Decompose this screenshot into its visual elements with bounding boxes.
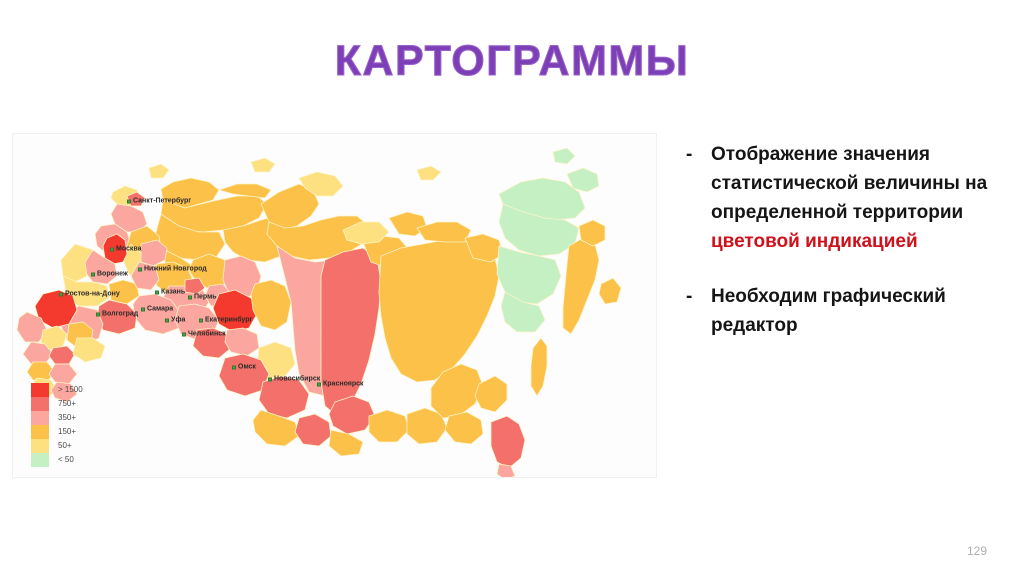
legend-label: 50+ — [58, 442, 72, 450]
bullet-dash-icon: - — [686, 282, 711, 311]
map-legend: > 1500 750+ 350+ 150+ 50+ < 50 — [31, 383, 131, 467]
bullet-text-plain: Отображение значения статистической вели… — [711, 144, 987, 223]
bullet-text-plain: Необходим графический редактор — [711, 286, 946, 336]
legend-item: 150+ — [31, 425, 131, 439]
legend-label: < 50 — [58, 456, 74, 464]
page-title: КАРТОГРАММЫ — [0, 38, 1024, 85]
legend-swatch — [31, 397, 49, 411]
legend-item: > 1500 — [31, 383, 131, 397]
map-panel: .r { stroke:#fdf3c8; stroke-width:0.8; s… — [12, 133, 657, 478]
legend-label: > 1500 — [58, 386, 83, 394]
legend-item: 50+ — [31, 439, 131, 453]
legend-swatch — [31, 453, 49, 467]
legend-item: 750+ — [31, 397, 131, 411]
bullet-dash-icon: - — [686, 140, 711, 169]
legend-item: 350+ — [31, 411, 131, 425]
bullet-text: Отображение значения статистической вели… — [711, 140, 1006, 256]
legend-swatch — [31, 411, 49, 425]
legend-swatch — [31, 383, 49, 397]
bullet-text: Необходим графический редактор — [711, 282, 1006, 340]
bullet-item-2: - Необходим графический редактор — [686, 282, 1006, 340]
bullet-item-1: - Отображение значения статистической ве… — [686, 140, 1006, 256]
bullet-text-accent: цветовой индикацией — [711, 231, 918, 252]
legend-swatch — [31, 439, 49, 453]
page-number: 129 — [967, 544, 987, 558]
legend-label: 750+ — [58, 400, 76, 408]
legend-item: < 50 — [31, 453, 131, 467]
bullet-list: - Отображение значения статистической ве… — [686, 140, 1006, 366]
legend-swatch — [31, 425, 49, 439]
legend-label: 150+ — [58, 428, 76, 436]
legend-label: 350+ — [58, 414, 76, 422]
